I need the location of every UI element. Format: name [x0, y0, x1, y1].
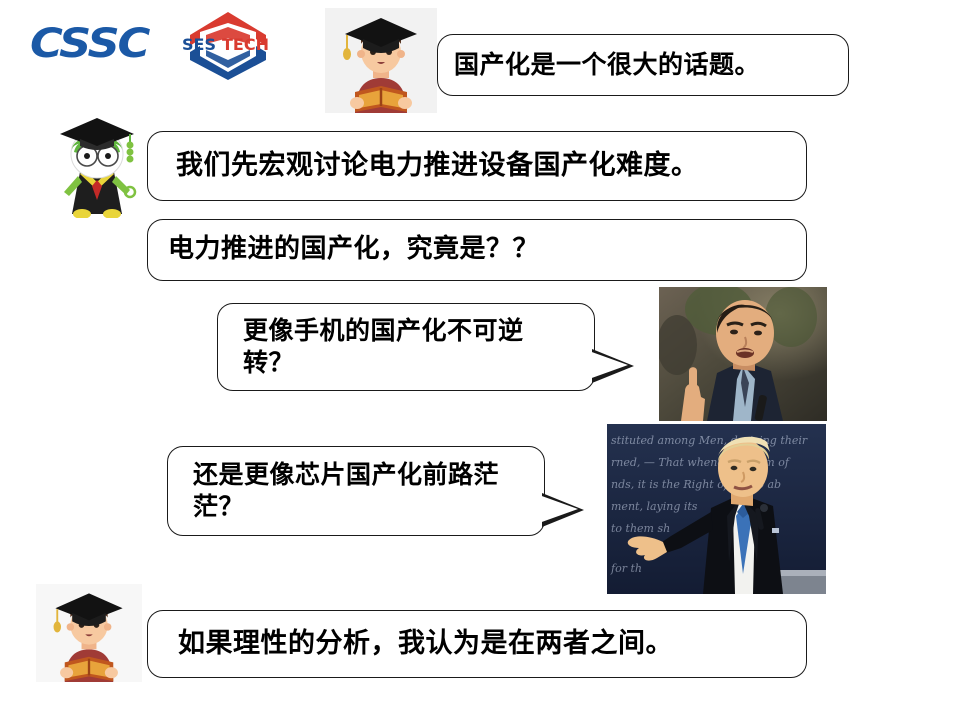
trump-debate-photo-image: stituted among Men, deriving their rned,… — [607, 424, 826, 594]
speech-bubble-2-text: 我们先宏观讨论电力推进设备国产化难度。 — [176, 149, 778, 184]
trump-debate-photo: stituted among Men, deriving their rned,… — [607, 424, 826, 594]
professor-avatar — [42, 106, 152, 218]
slide-canvas: CSSC SES TECH — [0, 0, 960, 720]
svg-text:for th: for th — [610, 562, 642, 575]
sestech-text-tech: TECH — [222, 35, 269, 54]
speech-bubble-4-tail — [592, 349, 634, 383]
cssc-logo: CSSC — [30, 22, 160, 66]
speech-bubble-3-text: 电力推进的国产化，究竟是？？ — [168, 233, 786, 266]
speech-bubble-4: 更像手机的国产化不可逆转？ — [217, 303, 595, 391]
cssc-logo-text: CSSC — [30, 22, 176, 66]
speech-bubble-1: 国产化是一个很大的话题。 — [437, 34, 849, 96]
speech-bubble-5-tail — [542, 493, 584, 527]
ren-zhengfei-photo-image — [659, 287, 827, 421]
ren-zhengfei-photo — [659, 287, 827, 421]
green-haired-professor-mascot-icon — [42, 106, 152, 218]
speech-bubble-6-text: 如果理性的分析，我认为是在两者之间。 — [178, 627, 776, 662]
speech-bubble-3: 电力推进的国产化，究竟是？？ — [147, 219, 807, 281]
speech-bubble-5: 还是更像芯片国产化前路茫茫？ — [167, 446, 545, 536]
student-avatar-top — [325, 8, 437, 113]
graduate-student-reading-book-icon — [325, 8, 437, 113]
speech-bubble-1-text: 国产化是一个很大的话题。 — [454, 49, 832, 81]
speech-bubble-2: 我们先宏观讨论电力推进设备国产化难度。 — [147, 131, 807, 201]
speech-bubble-5-text: 还是更像芯片国产化前路茫茫？ — [193, 459, 519, 523]
speech-bubble-4-text: 更像手机的国产化不可逆转？ — [243, 315, 569, 379]
sestech-logo-mark: SES TECH — [180, 8, 276, 80]
svg-text:ment, laying its: ment, laying its — [611, 500, 698, 513]
sestech-logo: SES TECH — [180, 8, 276, 80]
student-avatar-bottom — [36, 584, 142, 682]
speech-bubble-6: 如果理性的分析，我认为是在两者之间。 — [147, 610, 807, 678]
graduate-student-reading-book-icon — [36, 584, 142, 682]
sestech-text-ses: SES — [182, 35, 216, 54]
svg-text:stituted among Men, deriving t: stituted among Men, deriving their — [611, 434, 808, 447]
svg-text:to them sh: to them sh — [611, 522, 670, 535]
